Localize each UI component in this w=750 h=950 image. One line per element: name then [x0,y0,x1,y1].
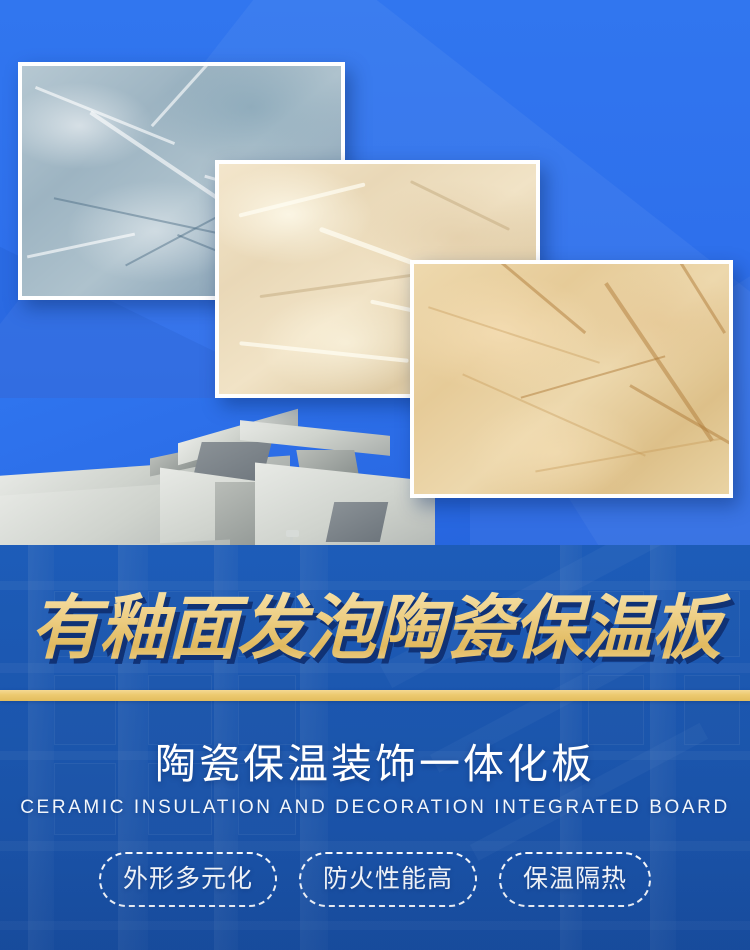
gold-divider-rule [0,690,750,701]
golden-marble-tile [410,260,733,498]
tile-surface [414,264,729,494]
product-promo-banner: 有釉面发泡陶瓷保温板 有釉面发泡陶瓷保温板 陶瓷保温装饰一体化板 CERAMIC… [0,0,750,950]
feature-pill-group: 外形多元化 防火性能高 保温隔热 [0,852,750,907]
subtitle-english: CERAMIC INSULATION AND DECORATION INTEGR… [0,796,750,820]
feature-pill-shape-variety[interactable]: 外形多元化 [99,852,277,907]
feature-pill-fire-resistance[interactable]: 防火性能高 [299,852,477,907]
building-recess [326,502,389,542]
page-title: 有釉面发泡陶瓷保温板 [0,586,750,670]
street-light-head [286,530,299,537]
feature-pill-thermal-insulation[interactable]: 保温隔热 [499,852,651,907]
subtitle-chinese: 陶瓷保温装饰一体化板 [0,738,750,790]
